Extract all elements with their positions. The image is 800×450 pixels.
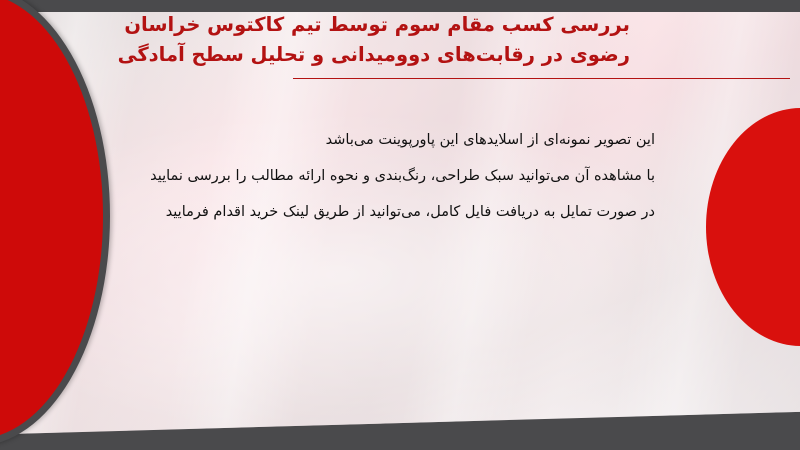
slide-canvas: بررسی کسب مقام سوم توسط تیم کاکتوس خراسا… [0, 0, 800, 450]
title-underline-divider [293, 78, 790, 79]
body-text-line-3: در صورت تمایل به دریافت فایل کامل، می‌تو… [135, 194, 655, 230]
slide-body-text: این تصویر نمونه‌ای از اسلایدهای این پاور… [135, 122, 655, 230]
slide-title-line-1: بررسی کسب مقام سوم توسط تیم کاکتوس خراسا… [170, 10, 630, 40]
body-text-line-1: این تصویر نمونه‌ای از اسلایدهای این پاور… [135, 122, 655, 158]
slide-title: بررسی کسب مقام سوم توسط تیم کاکتوس خراسا… [170, 10, 630, 70]
slide-title-line-2: رضوی در رقابت‌های دوومیدانی و تحلیل سطح … [170, 40, 630, 70]
body-text-line-2: با مشاهده آن می‌توانید سبک طراحی، رنگ‌بن… [135, 158, 655, 194]
